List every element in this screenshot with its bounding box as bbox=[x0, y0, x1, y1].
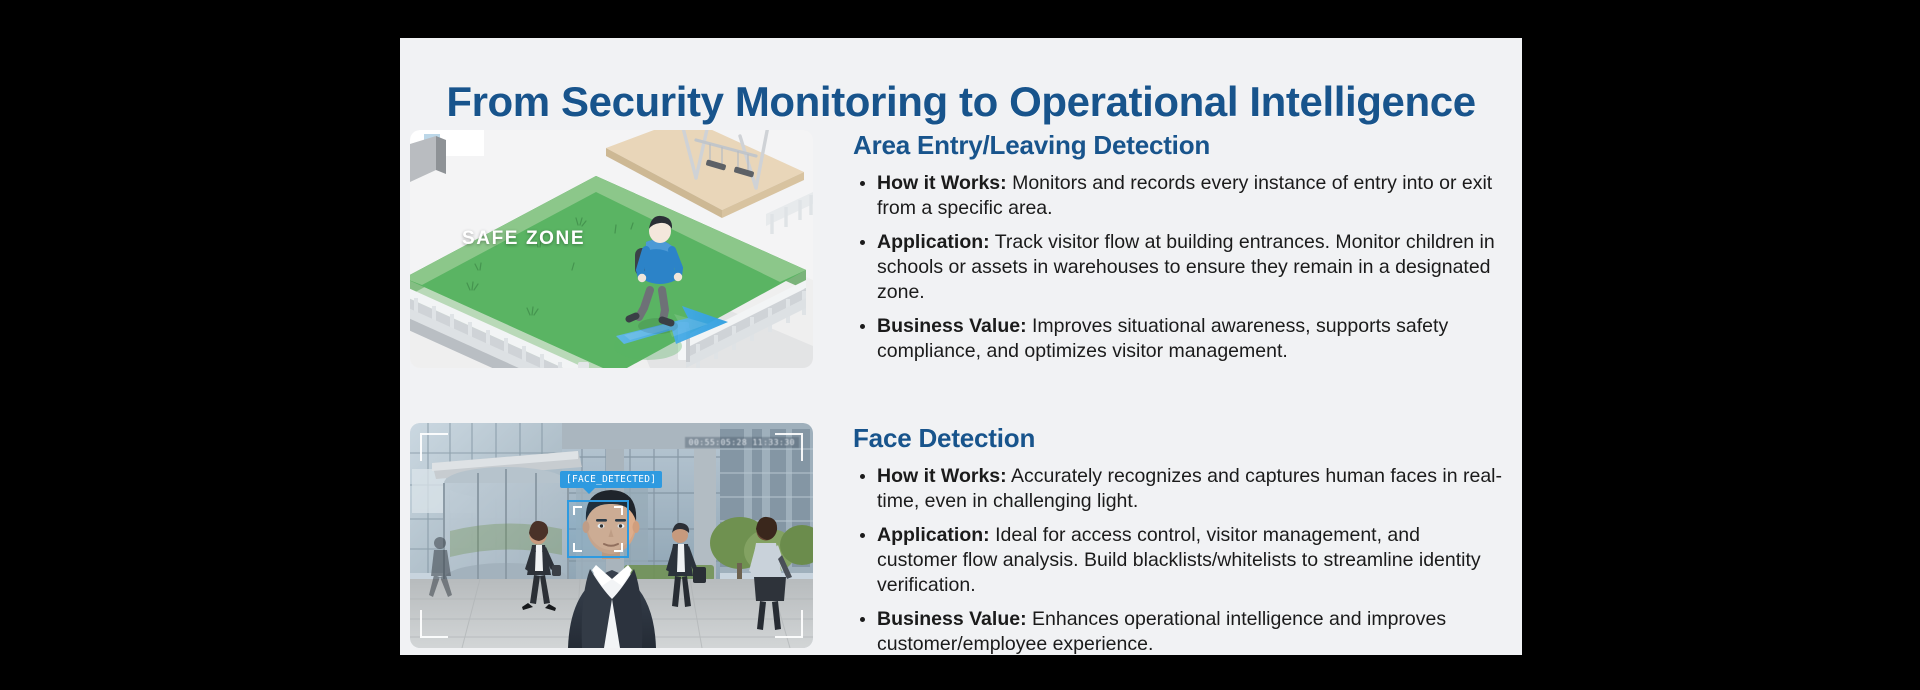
hud-corner-br-icon bbox=[775, 610, 803, 638]
section-face-detection: [FACE_DETECTED] 00:55:05:28 11:33:30 Fac… bbox=[400, 423, 1522, 655]
hud-corner-bl-icon bbox=[420, 610, 448, 638]
box-corner-tl-icon bbox=[573, 506, 582, 515]
screenshot-stage: From Security Monitoring to Operational … bbox=[0, 0, 1920, 690]
section-2-heading: Face Detection bbox=[853, 423, 1504, 454]
box-corner-tr-icon bbox=[614, 506, 623, 515]
section-1-body: Area Entry/Leaving Detection How it Work… bbox=[813, 130, 1522, 373]
bullet-label: Application: bbox=[877, 231, 990, 253]
bullet-application: Application: Ideal for access control, v… bbox=[853, 523, 1504, 598]
section-area-entry-leaving-detection: SAFE ZONE Area Entry/Leaving Detection H… bbox=[400, 130, 1522, 373]
bullet-label: Business Value: bbox=[877, 315, 1027, 337]
page-title: From Security Monitoring to Operational … bbox=[400, 78, 1522, 126]
bullet-label: How it Works: bbox=[877, 465, 1007, 487]
camera-timestamp: 00:55:05:28 11:33:30 bbox=[685, 437, 799, 448]
box-corner-br-icon bbox=[614, 543, 623, 552]
bullet-label: How it Works: bbox=[877, 172, 1007, 194]
section-2-body: Face Detection How it Works: Accurately … bbox=[813, 423, 1522, 655]
section-1-bullet-list: How it Works: Monitors and records every… bbox=[853, 171, 1504, 364]
section-1-heading: Area Entry/Leaving Detection bbox=[853, 130, 1504, 161]
photo-face-detection: [FACE_DETECTED] 00:55:05:28 11:33:30 bbox=[410, 423, 813, 648]
face-detected-overlay-label: [FACE_DETECTED] bbox=[560, 471, 662, 488]
hud-corner-tl-icon bbox=[420, 433, 448, 461]
bullet-how-it-works: How it Works: Accurately recognizes and … bbox=[853, 464, 1504, 514]
slide-canvas: From Security Monitoring to Operational … bbox=[400, 38, 1522, 655]
bullet-label: Application: bbox=[877, 524, 990, 546]
surveillance-scene: [FACE_DETECTED] 00:55:05:28 11:33:30 bbox=[410, 423, 813, 648]
bullet-business-value: Business Value: Enhances operational int… bbox=[853, 607, 1504, 655]
bullet-how-it-works: How it Works: Monitors and records every… bbox=[853, 171, 1504, 221]
box-corner-bl-icon bbox=[573, 543, 582, 552]
safe-zone-scene: SAFE ZONE bbox=[410, 130, 813, 368]
bullet-application: Application: Track visitor flow at build… bbox=[853, 230, 1504, 305]
illustration-safe-zone: SAFE ZONE bbox=[410, 130, 813, 368]
section-2-bullet-list: How it Works: Accurately recognizes and … bbox=[853, 464, 1504, 655]
bullet-label: Business Value: bbox=[877, 608, 1027, 630]
safe-zone-overlay-label: SAFE ZONE bbox=[462, 228, 585, 250]
bullet-business-value: Business Value: Improves situational awa… bbox=[853, 314, 1504, 364]
face-bounding-box bbox=[567, 500, 629, 558]
